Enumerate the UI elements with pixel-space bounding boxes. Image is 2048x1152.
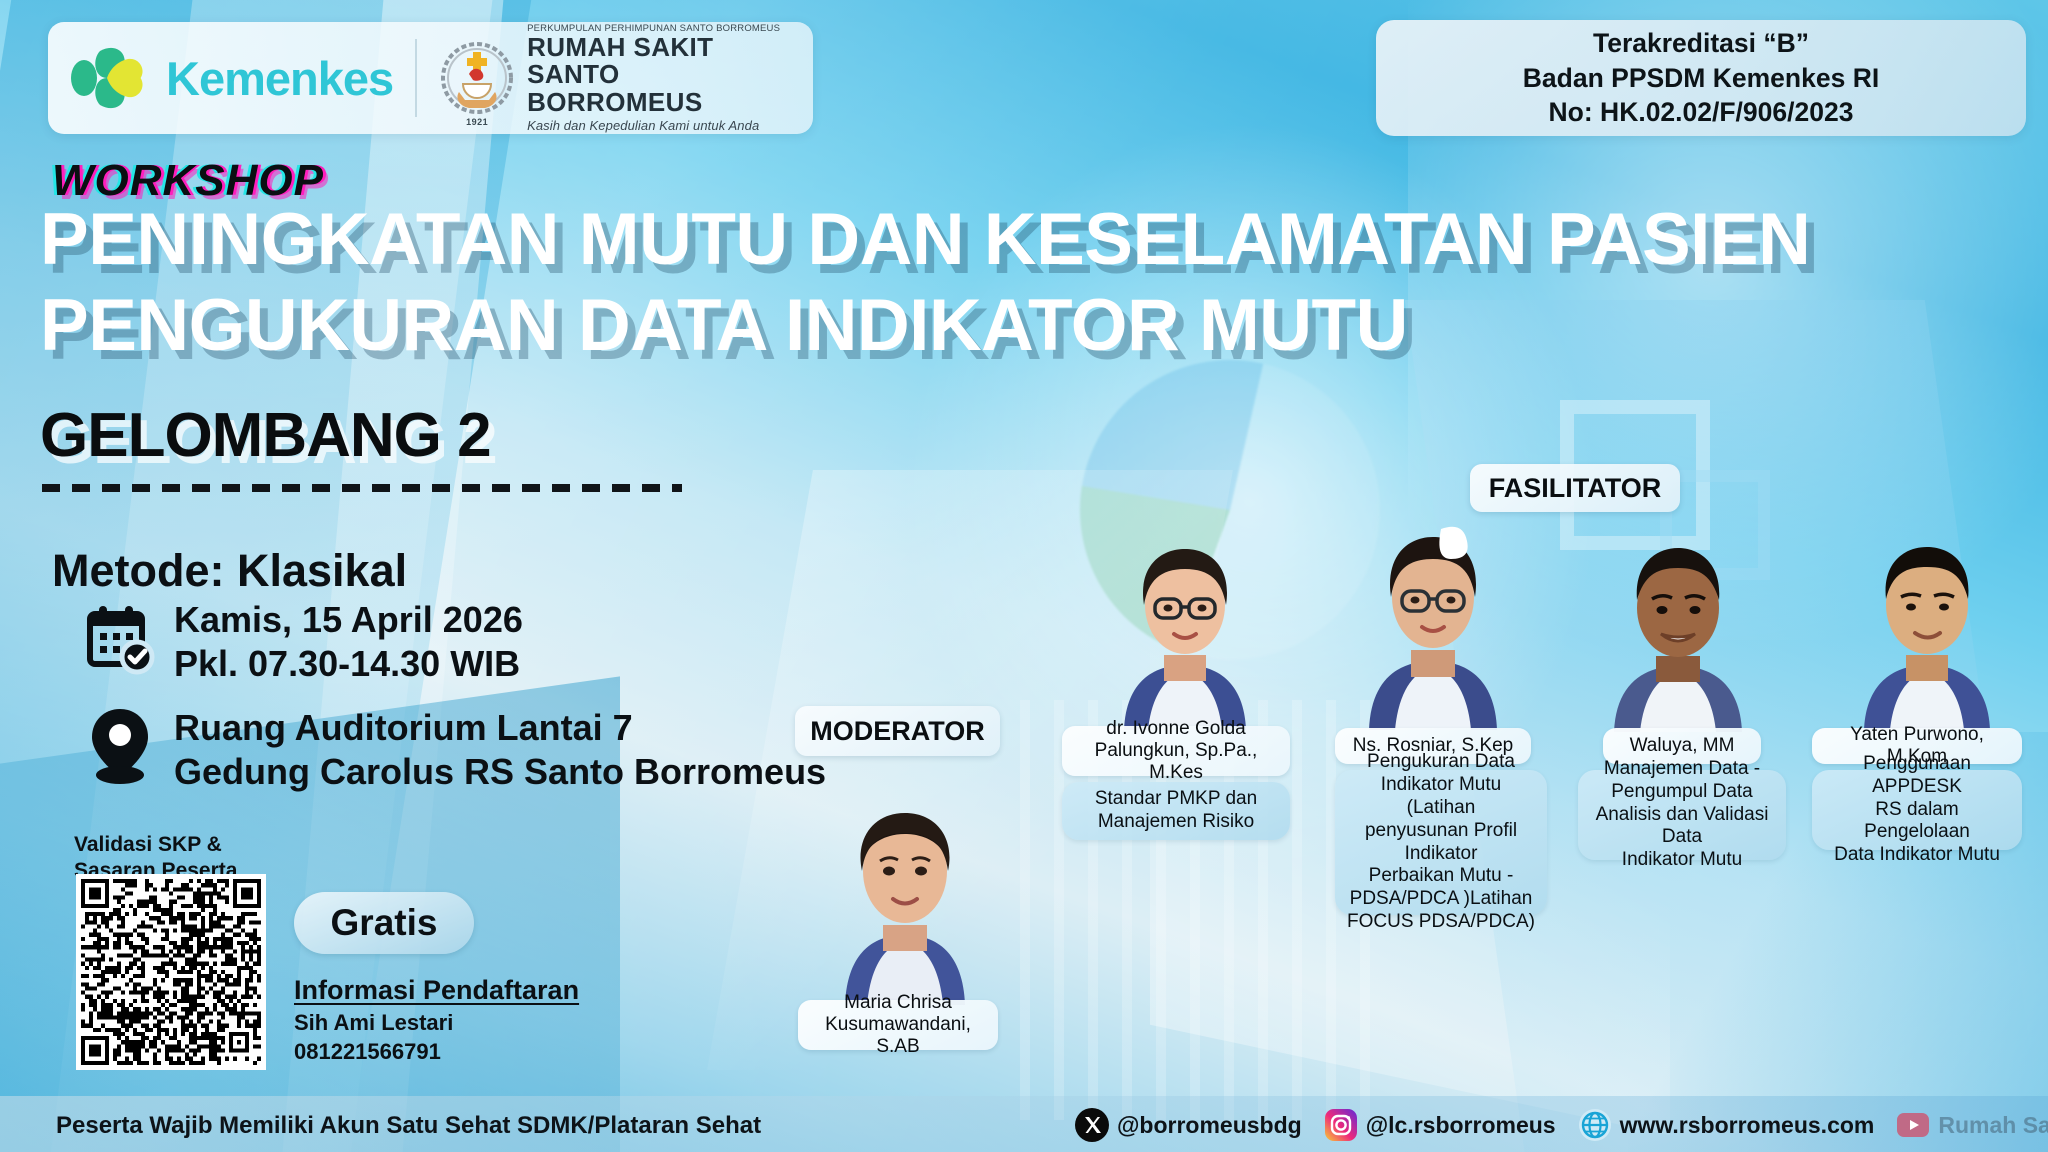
facilitator-topic-3: Manajemen Data -Pengumpul DataAnalisis d… xyxy=(1588,758,1776,872)
calendar-check-icon xyxy=(82,602,156,681)
method-label: Metode: Klasikal xyxy=(52,545,407,597)
qr-caption-line1: Validasi SKP & xyxy=(74,833,222,856)
facilitator-photo-3 xyxy=(1592,520,1764,732)
kemenkes-mark-icon xyxy=(70,41,152,115)
title-line-1: PENINGKATAN MUTU DAN KESELAMATAN PASIEN xyxy=(40,199,1810,280)
event-date: Kamis, 15 April 2026 xyxy=(174,599,523,640)
facilitator-topic-chip-2: Pengukuran DataIndikator Mutu (Latihanpe… xyxy=(1335,770,1547,915)
hospital-logo: 1921 PERKUMPULAN PERHIMPUNAN SANTO BORRO… xyxy=(439,24,791,132)
wave-label: GELOMBANG 2 xyxy=(40,400,491,471)
social-link-website[interactable]: www.rsborromeus.com xyxy=(1578,1108,1875,1142)
borromeus-seal-icon: 1921 xyxy=(439,40,515,116)
facilitator-photo-4 xyxy=(1842,515,2012,730)
hospital-tagline: Kasih dan Kepedulian Kami untuk Anda xyxy=(527,119,791,132)
venue-text: Ruang Auditorium Lantai 7 Gedung Carolus… xyxy=(174,706,826,794)
hospital-name-line2: SANTO BORROMEUS xyxy=(527,61,791,116)
dashed-divider xyxy=(42,484,682,492)
facilitator-name-3: Waluya, MM xyxy=(1630,735,1735,757)
social-label-youtube: Rumah Sakit Santo Borromeus Official xyxy=(1938,1112,2048,1139)
hospital-wordmark: PERKUMPULAN PERHIMPUNAN SANTO BORROMEUS … xyxy=(527,24,791,132)
globe-icon xyxy=(1578,1108,1612,1142)
moderator-photo xyxy=(815,775,995,1005)
moderator-badge: MODERATOR xyxy=(795,706,1000,756)
facilitator-name-chip-1: dr. Ivonne GoldaPalungkun, Sp.Pa., M.Kes xyxy=(1062,726,1290,776)
kemenkes-logo: Kemenkes xyxy=(70,41,393,115)
facilitator-photo-1 xyxy=(1100,515,1270,730)
facilitator-topic-1: Standar PMKP danManajemen Risiko xyxy=(1095,788,1257,834)
facilitator-topic-chip-4: Penggunaan APPDESKRS dalam PengelolaanDa… xyxy=(1812,770,2022,850)
date-time-row: Kamis, 15 April 2026 Pkl. 07.30-14.30 WI… xyxy=(82,598,523,686)
facilitator-photo-2 xyxy=(1345,505,1520,730)
facilitator-name-1: dr. Ivonne GoldaPalungkun, Sp.Pa., M.Kes xyxy=(1071,718,1281,784)
accreditation-badge: Terakreditasi “B” Badan PPSDM Kemenkes R… xyxy=(1376,20,2026,136)
kemenkes-wordmark: Kemenkes xyxy=(166,51,393,106)
social-label-instagram: @lc.rsborromeus xyxy=(1366,1112,1556,1139)
qr-code[interactable] xyxy=(76,874,266,1070)
social-link-youtube[interactable]: Rumah Sakit Santo Borromeus Official xyxy=(1896,1108,2048,1142)
hospital-name-line1: RUMAH SAKIT xyxy=(527,34,791,62)
venue-row: Ruang Auditorium Lantai 7 Gedung Carolus… xyxy=(84,706,826,794)
social-label-website: www.rsborromeus.com xyxy=(1620,1112,1875,1139)
date-time-text: Kamis, 15 April 2026 Pkl. 07.30-14.30 WI… xyxy=(174,598,523,686)
page-title: PENINGKATAN MUTU DAN KESELAMATAN PASIEN … xyxy=(40,205,1860,361)
contact-name: Sih Ami Lestari xyxy=(294,1010,453,1036)
venue-line-2: Gedung Carolus RS Santo Borromeus xyxy=(174,751,826,792)
facilitator-topic-4: Penggunaan APPDESKRS dalam PengelolaanDa… xyxy=(1822,753,2012,867)
facilitator-topic-chip-3: Manajemen Data -Pengumpul DataAnalisis d… xyxy=(1578,770,1786,860)
seal-year: 1921 xyxy=(439,117,515,127)
youtube-icon xyxy=(1896,1108,1930,1142)
moderator-name: Maria ChrisaKusumawandani, S.AB xyxy=(807,992,989,1058)
accreditation-line1: Terakreditasi “B” xyxy=(1593,26,1809,60)
title-line-2: PENGUKURAN DATA INDIKATOR MUTU xyxy=(40,291,1860,361)
accreditation-line2: Badan PPSDM Kemenkes RI xyxy=(1523,61,1879,95)
location-pin-icon xyxy=(84,707,156,792)
contact-phone[interactable]: 081221566791 xyxy=(294,1039,441,1065)
price-badge: Gratis xyxy=(294,892,474,954)
social-label-x: @borromeusbdg xyxy=(1117,1112,1302,1139)
social-link-instagram[interactable]: @lc.rsborromeus xyxy=(1324,1108,1556,1142)
facilitator-topic-2: Pengukuran DataIndikator Mutu (Latihanpe… xyxy=(1345,751,1537,933)
workshop-poster: Kemenkes 1921 PERKUMPULAN PERHIMPUNAN SA… xyxy=(0,0,2048,1152)
social-link-x[interactable]: @borromeusbdg xyxy=(1075,1108,1302,1142)
registration-info-title: Informasi Pendaftaran xyxy=(294,975,579,1006)
logo-divider xyxy=(415,39,417,117)
moderator-name-chip: Maria ChrisaKusumawandani, S.AB xyxy=(798,1000,998,1050)
facilitator-topic-chip-1: Standar PMKP danManajemen Risiko xyxy=(1062,782,1290,840)
event-time: Pkl. 07.30-14.30 WIB xyxy=(174,643,520,684)
venue-line-1: Ruang Auditorium Lantai 7 xyxy=(174,707,633,748)
instagram-icon xyxy=(1324,1108,1358,1142)
logo-bar: Kemenkes 1921 PERKUMPULAN PERHIMPUNAN SA… xyxy=(48,22,813,134)
x-twitter-icon xyxy=(1075,1108,1109,1142)
footer-note: Peserta Wajib Memiliki Akun Satu Sehat S… xyxy=(56,1112,761,1140)
social-links: @borromeusbdg @lc.rsborromeus xyxy=(1075,1108,2048,1142)
accreditation-line3: No: HK.02.02/F/906/2023 xyxy=(1549,95,1854,129)
